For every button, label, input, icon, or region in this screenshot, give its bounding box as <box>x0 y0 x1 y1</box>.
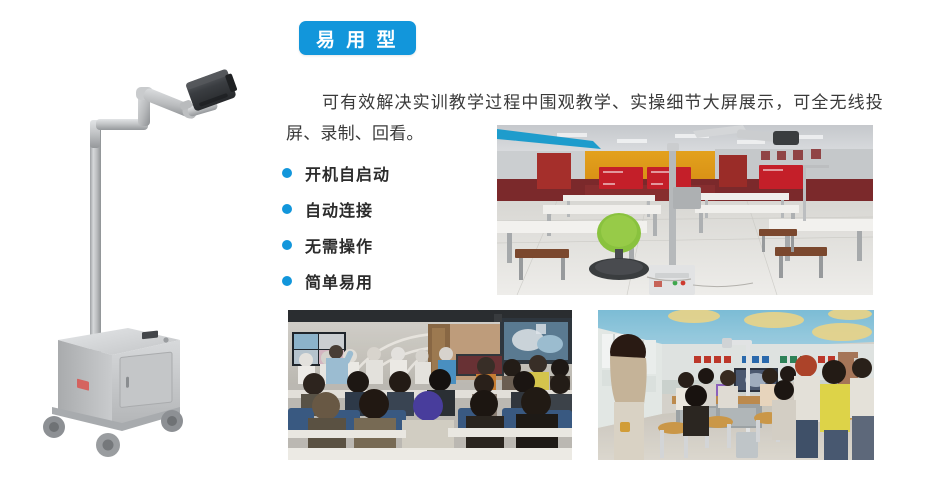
feature-label: 开机自启动 <box>305 161 390 185</box>
photo-scene <box>497 125 873 295</box>
photo-lab-classroom-demo <box>598 310 874 460</box>
feature-label: 简单易用 <box>305 269 373 293</box>
section-badge: 易 用 型 <box>299 21 416 55</box>
mobile-camera-stand-icon <box>30 35 270 465</box>
feature-label: 自动连接 <box>305 197 373 221</box>
product-illustration <box>30 35 270 465</box>
camera-head <box>179 68 240 112</box>
power-button <box>163 337 168 342</box>
feature-list: 开机自启动 自动连接 无需操作 简单易用 <box>281 155 481 299</box>
cabinet-handle <box>126 377 129 388</box>
photo-empty-training-classroom <box>497 125 873 295</box>
slide-root: 易 用 型 可有效解决实训教学过程中围观教学、实操细节大屏展示，可全无线投屏、录… <box>0 0 940 491</box>
photo-scene <box>598 310 874 460</box>
feature-item: 无需操作 <box>281 227 481 263</box>
feature-label: 无需操作 <box>305 233 373 257</box>
photo-scene <box>288 310 572 460</box>
photo-lecture-hall-audience <box>288 310 572 460</box>
bullet-dot-icon <box>282 168 292 178</box>
bullet-dot-icon <box>282 204 292 214</box>
feature-item: 开机自启动 <box>281 155 481 191</box>
feature-item: 自动连接 <box>281 191 481 227</box>
bullet-dot-icon <box>282 240 292 250</box>
feature-item: 简单易用 <box>281 263 481 299</box>
bullet-dot-icon <box>282 276 292 286</box>
